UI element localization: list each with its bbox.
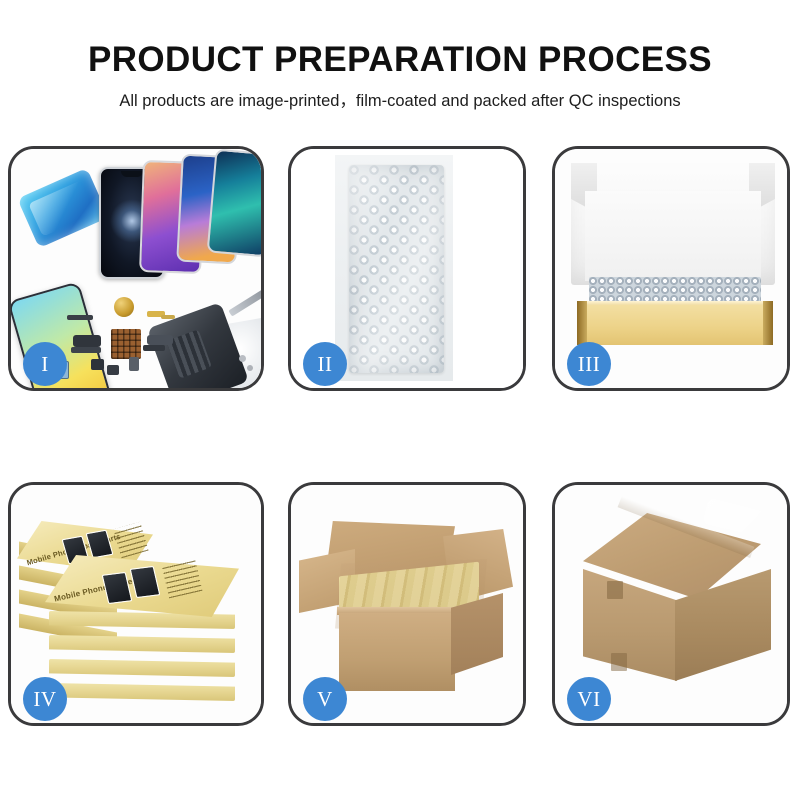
box-corner-left (577, 301, 587, 345)
header: PRODUCT PREPARATION PROCESS All products… (0, 0, 800, 110)
flex-cable-4-icon (143, 345, 165, 351)
step-badge-4: IV (23, 677, 67, 721)
box-layer-4 (49, 683, 235, 701)
step-badge-6: VI (567, 677, 611, 721)
speaker-coil-icon (114, 297, 134, 317)
step-badge-3: III (567, 342, 611, 386)
box-layer-3 (49, 659, 235, 677)
tweezers-icon (228, 288, 261, 316)
screw-icon (239, 355, 246, 362)
camera-module-icon (107, 365, 119, 375)
box-corner-right (763, 301, 773, 345)
box-front-panel (577, 305, 773, 345)
page-title: PRODUCT PREPARATION PROCESS (0, 0, 800, 77)
process-steps-grid: I II III (8, 146, 792, 726)
small-component-icon (91, 359, 104, 370)
carton-tape-mark-1 (607, 581, 623, 599)
step-panel-5: V (288, 482, 526, 726)
page-subtitle: All products are image-printed，film-coat… (0, 77, 800, 110)
box-inner-surface (585, 191, 761, 281)
battery-component-icon (129, 357, 139, 371)
blue-phone-screen-icon (17, 168, 108, 248)
connector-bar-icon (67, 315, 93, 320)
step-badge-5: V (303, 677, 347, 721)
teal-phone-icon (207, 149, 261, 257)
step-badge-2: II (303, 342, 347, 386)
step-badge-1: I (23, 342, 67, 386)
flex-cable-2-icon (71, 347, 101, 353)
step-panel-1: I (8, 146, 264, 391)
flex-cable-3-icon (147, 335, 173, 345)
product-preparation-process-page: PRODUCT PREPARATION PROCESS All products… (0, 0, 800, 800)
step-panel-3: III (552, 146, 790, 391)
carton-front-panel (339, 613, 455, 691)
chip-grid-icon (111, 329, 141, 359)
box-layer-2 (49, 635, 235, 653)
step-panel-4: Mobile Phone Spare Parts Mobile Phone Sp… (8, 482, 264, 726)
screw-2-icon (247, 365, 253, 371)
flex-cable-icon (73, 335, 101, 347)
carton-tape-mark-2 (611, 653, 627, 671)
step-panel-2: II (288, 146, 526, 391)
step-panel-6: VI (552, 482, 790, 726)
gold-flex-small-icon (161, 315, 175, 319)
plastic-sheen-overlay (349, 165, 444, 373)
